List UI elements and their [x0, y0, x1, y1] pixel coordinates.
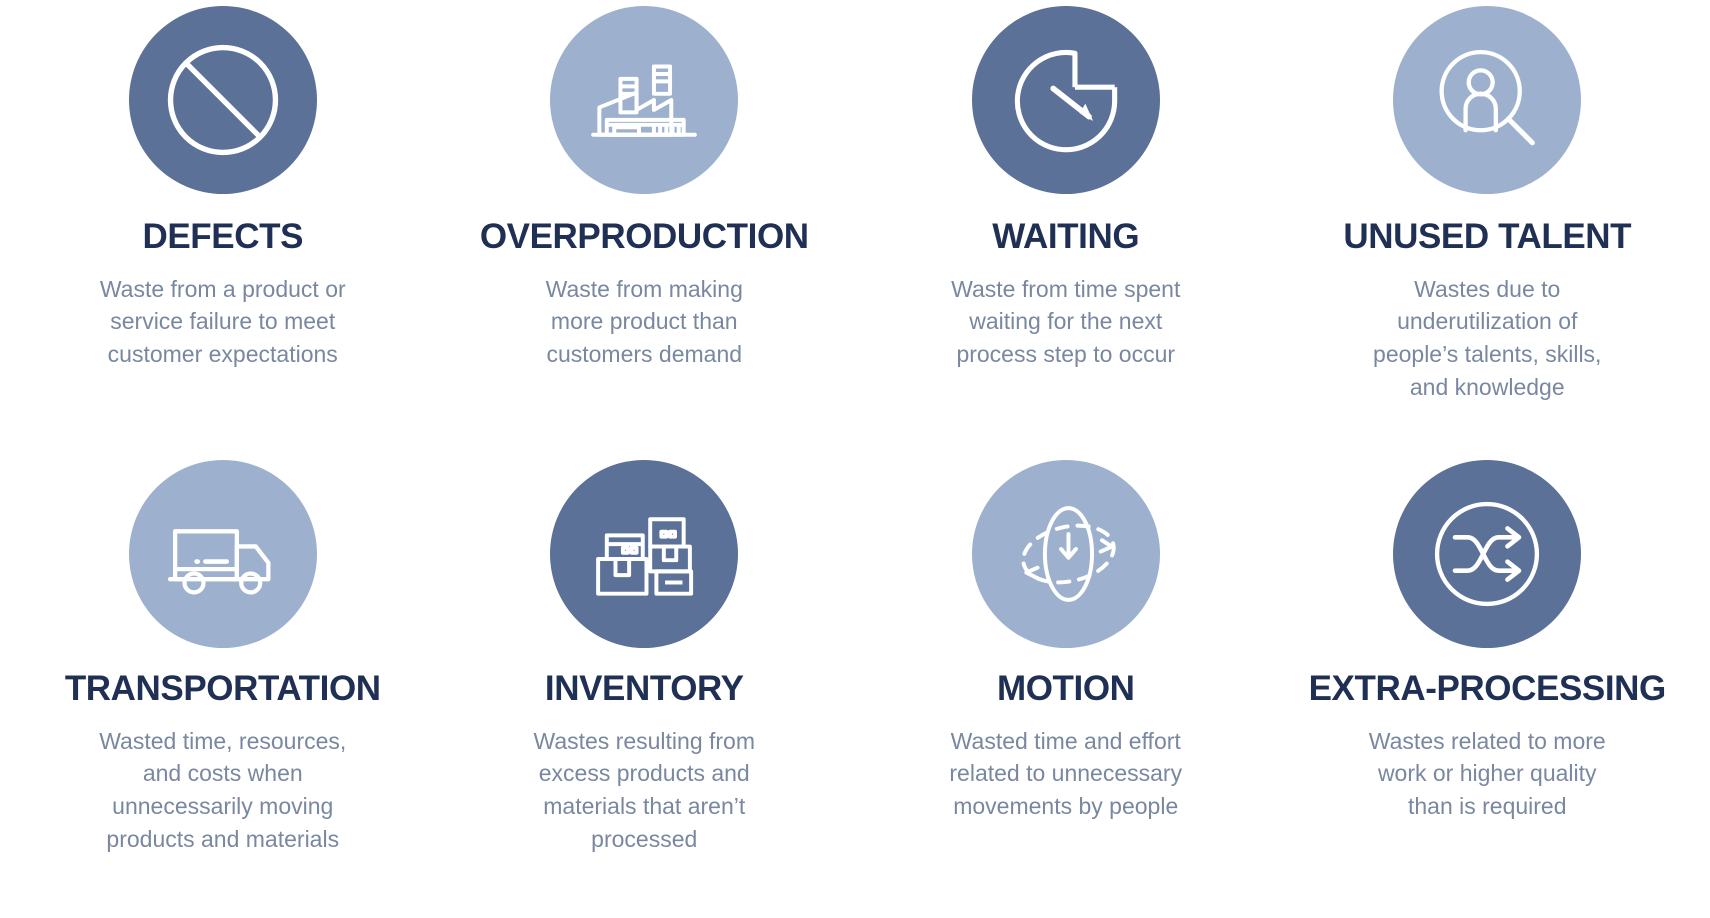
desc-line: materials that aren’t — [533, 790, 755, 823]
desc-line: Wastes due to — [1373, 273, 1601, 306]
overproduction-icon-circle — [550, 6, 738, 194]
desc-line: products and materials — [99, 823, 346, 856]
clock-icon — [1002, 36, 1130, 164]
rotation-arrows-icon — [1004, 492, 1128, 616]
motion-icon-circle — [972, 460, 1160, 648]
prohibition-sign-icon — [159, 36, 287, 164]
card-description: Wastes related to more work or higher qu… — [1369, 725, 1606, 823]
waste-card-unused-talent: UNUSED TALENT Wastes due to underutiliza… — [1277, 6, 1699, 460]
card-title: WAITING — [992, 219, 1139, 256]
card-title: OVERPRODUCTION — [480, 219, 809, 256]
delivery-truck-icon — [160, 491, 286, 617]
card-title: MOTION — [997, 671, 1135, 708]
desc-line: more product than — [546, 305, 743, 338]
desc-line: waiting for the next — [951, 305, 1180, 338]
desc-line: movements by people — [949, 790, 1182, 823]
card-title: INVENTORY — [545, 671, 744, 708]
desc-line: Wastes related to more — [1369, 725, 1606, 758]
card-description: Waste from a product or service failure … — [100, 273, 346, 371]
desc-line: Waste from time spent — [951, 273, 1180, 306]
waste-card-extra-processing: EXTRA-PROCESSING Wastes related to more … — [1277, 460, 1699, 914]
card-description: Waste from making more product than cust… — [546, 273, 743, 371]
desc-line: than is required — [1369, 790, 1606, 823]
desc-line: Wasted time, resources, — [99, 725, 346, 758]
desc-line: underutilization of — [1373, 305, 1601, 338]
card-description: Wasted time, resources, and costs when u… — [99, 725, 346, 856]
eight-wastes-infographic: DEFECTS Waste from a product or service … — [0, 0, 1710, 918]
card-title: TRANSPORTATION — [65, 671, 381, 708]
inventory-icon-circle — [550, 460, 738, 648]
desc-line: process step to occur — [951, 338, 1180, 371]
waste-card-inventory: INVENTORY Wastes resulting from excess p… — [434, 460, 856, 914]
stacked-boxes-icon — [582, 492, 706, 616]
desc-line: Wasted time and effort — [949, 725, 1182, 758]
desc-line: related to unnecessary — [949, 757, 1182, 790]
card-title: EXTRA-PROCESSING — [1309, 671, 1666, 708]
desc-line: excess products and — [533, 757, 755, 790]
defects-icon-circle — [129, 6, 317, 194]
waiting-icon-circle — [972, 6, 1160, 194]
transportation-icon-circle — [129, 460, 317, 648]
desc-line: customers demand — [546, 338, 743, 371]
factory-icon — [582, 38, 706, 162]
waste-card-overproduction: OVERPRODUCTION Waste from making more pr… — [434, 6, 856, 460]
shuffle-arrows-icon — [1423, 490, 1551, 618]
desc-line: and knowledge — [1373, 371, 1601, 404]
waste-card-waiting: WAITING Waste from time spent waiting fo… — [855, 6, 1277, 460]
desc-line: Wastes resulting from — [533, 725, 755, 758]
desc-line: Waste from making — [546, 273, 743, 306]
desc-line: processed — [533, 823, 755, 856]
waste-card-transportation: TRANSPORTATION Wasted time, resources, a… — [12, 460, 434, 914]
card-title: DEFECTS — [142, 219, 303, 256]
waste-card-defects: DEFECTS Waste from a product or service … — [12, 6, 434, 460]
card-description: Waste from time spent waiting for the ne… — [951, 273, 1180, 371]
card-description: Wastes resulting from excess products an… — [533, 725, 755, 856]
card-description: Wastes due to underutilization of people… — [1373, 273, 1601, 404]
desc-line: people’s talents, skills, — [1373, 338, 1601, 371]
extra-processing-icon-circle — [1393, 460, 1581, 648]
desc-line: service failure to meet — [100, 305, 346, 338]
card-description: Wasted time and effort related to unnece… — [949, 725, 1182, 823]
card-title: UNUSED TALENT — [1343, 219, 1631, 256]
unused-talent-icon-circle — [1393, 6, 1581, 194]
desc-line: Waste from a product or — [100, 273, 346, 306]
desc-line: customer expectations — [100, 338, 346, 371]
desc-line: and costs when — [99, 757, 346, 790]
desc-line: unnecessarily moving — [99, 790, 346, 823]
person-magnifier-icon — [1424, 37, 1550, 163]
desc-line: work or higher quality — [1369, 757, 1606, 790]
waste-card-motion: MOTION Wasted time and effort related to… — [855, 460, 1277, 914]
